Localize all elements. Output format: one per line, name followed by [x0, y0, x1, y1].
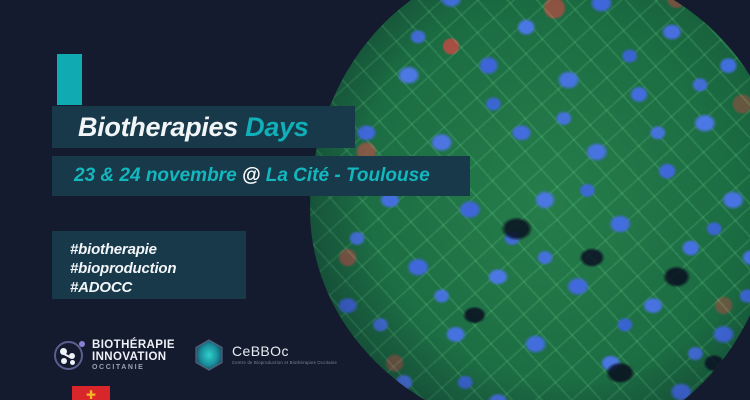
title-main-text: Biotherapies [78, 112, 238, 142]
logo-biotherapie-innovation-occitanie[interactable]: BIOTHÉRAPIE INNOVATION OCCITANIE [52, 339, 175, 372]
event-banner: Biotherapies Days 23 & 24 novembre @ La … [0, 0, 750, 400]
event-date: 23 & 24 novembre [74, 165, 237, 186]
at-symbol: @ [242, 165, 261, 186]
title-box: Biotherapies Days [52, 106, 355, 148]
molecule-circle-icon [52, 339, 85, 372]
hashtags-box: #biotherapie #bioproduction #ADOCC [52, 231, 246, 299]
fluorescence-microscopy-image [280, 0, 750, 400]
title-accent-text: Days [245, 112, 308, 142]
logo-line-3: OCCITANIE [92, 364, 175, 371]
page-title: Biotherapies Days [52, 112, 309, 143]
event-venue: La Cité - Toulouse [266, 165, 430, 186]
logo-cebboc-name: CeBBOc [232, 344, 337, 359]
hashtag-item[interactable]: #ADOCC [70, 278, 246, 297]
date-venue-line: 23 & 24 novembre @ La Cité - Toulouse [52, 165, 430, 187]
date-venue-box: 23 & 24 novembre @ La Cité - Toulouse [52, 156, 470, 196]
hashtag-item[interactable]: #biotherapie [70, 240, 246, 259]
logo-line-1: BIOTHÉRAPIE [92, 339, 175, 351]
organoid-body [310, 0, 750, 400]
cross-glyph: ✚ [86, 389, 96, 400]
occitanie-cross-icon[interactable]: ✚ [72, 386, 110, 400]
logo-line-2: INNOVATION [92, 351, 175, 363]
accent-block [57, 54, 82, 105]
logo-biotherapie-text: BIOTHÉRAPIE INNOVATION OCCITANIE [92, 339, 175, 372]
hexagon-icon [193, 338, 225, 372]
logo-cebboc[interactable]: CeBBOc Centre de Bioproduction et Biothé… [193, 338, 337, 372]
logo-cebboc-text: CeBBOc Centre de Bioproduction et Biothé… [232, 344, 337, 365]
hashtag-item[interactable]: #bioproduction [70, 259, 246, 278]
sponsor-logos: BIOTHÉRAPIE INNOVATION OCCITANIE CeBBOc … [52, 338, 337, 372]
logo-cebboc-subtitle: Centre de Bioproduction et Biothérapies … [232, 361, 337, 365]
image-vignette [310, 0, 750, 400]
